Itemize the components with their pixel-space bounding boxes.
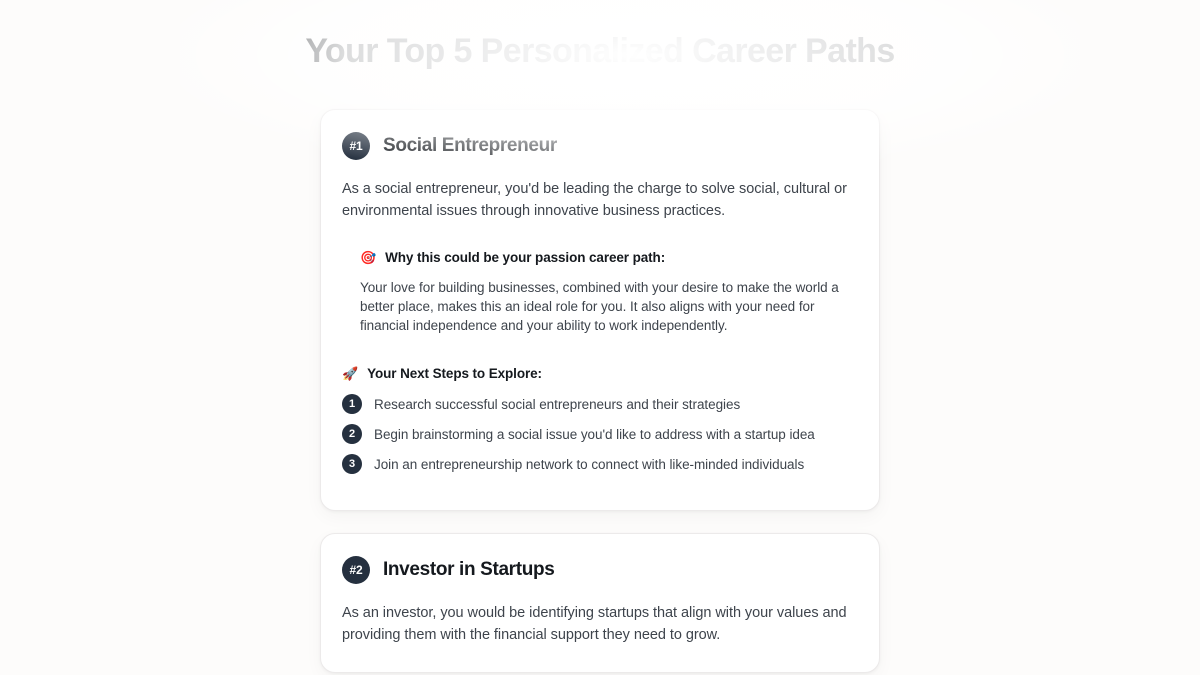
- card-header: #1 Social Entrepreneur: [342, 132, 858, 160]
- step-number: 2: [342, 424, 362, 444]
- step-item: 3 Join an entrepreneurship network to co…: [342, 454, 858, 474]
- step-number: 3: [342, 454, 362, 474]
- step-item: 1 Research successful social entrepreneu…: [342, 394, 858, 414]
- card-header: #2 Investor in Startups: [342, 556, 858, 584]
- step-number: 1: [342, 394, 362, 414]
- passion-text: Your love for building businesses, combi…: [360, 279, 858, 335]
- step-text: Research successful social entrepreneurs…: [374, 395, 740, 414]
- passion-heading: 🎯 Why this could be your passion career …: [360, 250, 858, 265]
- card-title: Investor in Startups: [383, 559, 554, 581]
- career-paths-page: Your Top 5 Personalized Career Paths #1 …: [0, 0, 1200, 675]
- career-path-card[interactable]: #2 Investor in Startups As an investor, …: [320, 533, 880, 673]
- rank-badge: #2: [342, 556, 370, 584]
- passion-heading-label: Why this could be your passion career pa…: [385, 250, 665, 265]
- rocket-icon: 🚀: [342, 367, 358, 380]
- card-description: As a social entrepreneur, you'd be leadi…: [342, 178, 858, 222]
- next-steps-heading-label: Your Next Steps to Explore:: [367, 366, 542, 381]
- page-title: Your Top 5 Personalized Career Paths: [0, 29, 1200, 73]
- card-title: Social Entrepreneur: [383, 135, 557, 157]
- rank-badge: #1: [342, 132, 370, 160]
- career-path-card-list: #1 Social Entrepreneur As a social entre…: [320, 73, 880, 673]
- dart-target-icon: 🎯: [360, 251, 376, 264]
- step-text: Join an entrepreneurship network to conn…: [374, 455, 804, 474]
- card-description: As an investor, you would be identifying…: [342, 602, 858, 646]
- step-text: Begin brainstorming a social issue you'd…: [374, 425, 815, 444]
- next-steps-heading: 🚀 Your Next Steps to Explore:: [342, 366, 858, 381]
- career-path-card[interactable]: #1 Social Entrepreneur As a social entre…: [320, 109, 880, 511]
- step-item: 2 Begin brainstorming a social issue you…: [342, 424, 858, 444]
- passion-section: 🎯 Why this could be your passion career …: [342, 250, 858, 335]
- next-steps-section: 🚀 Your Next Steps to Explore: 1 Research…: [342, 366, 858, 474]
